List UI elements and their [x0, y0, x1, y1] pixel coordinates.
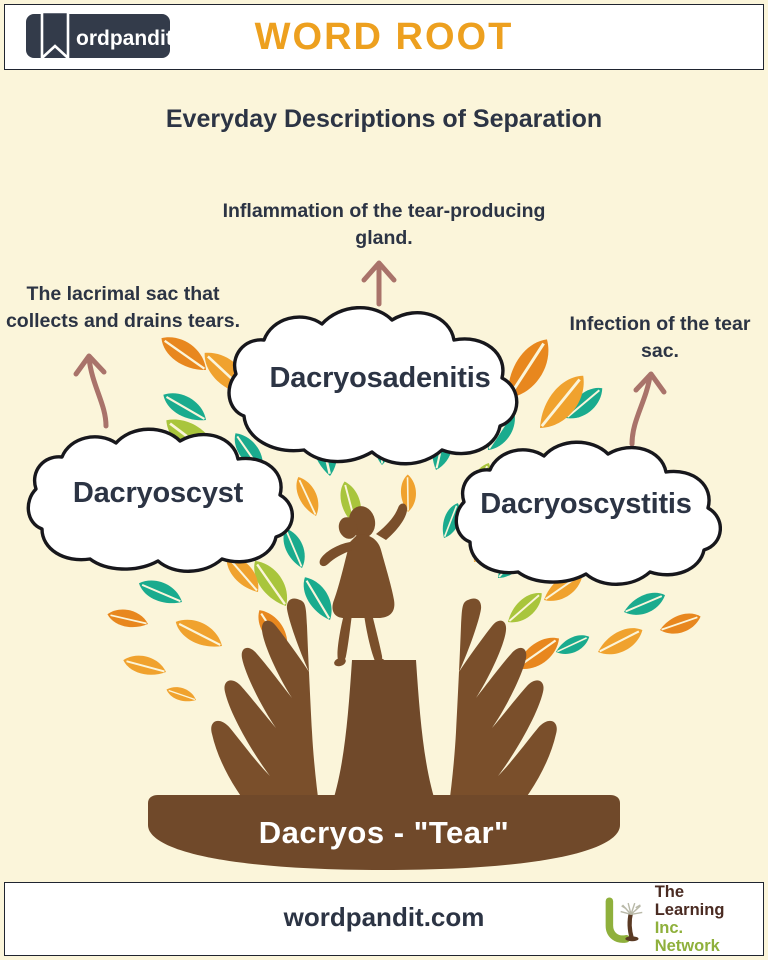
cloud-left[interactable]: Dacryoscyst [22, 425, 294, 577]
partner-line-2: Inc. Network [655, 920, 752, 956]
arrow-up-middle-icon [358, 258, 400, 306]
wordpandit-logo[interactable]: ordpandit [24, 12, 172, 60]
subtitle: Everyday Descriptions of Separation [0, 105, 768, 134]
root-label: Dacryos - "Tear" [148, 795, 620, 870]
cloud-label-right: Dacryoscystitis [450, 486, 722, 524]
cloud-label-left: Dacryoscyst [22, 475, 294, 513]
description-middle: Inflammation of the tear-producing gland… [214, 198, 554, 253]
the-learning-inc-network-logo[interactable]: The Learning Inc. Network [600, 895, 752, 945]
infographic-poster: WORD ROOT Everyday Descriptions of Separ… [0, 0, 768, 960]
page-title: WORD ROOT [255, 16, 514, 59]
cloud-right[interactable]: Dacryoscystitis [450, 438, 722, 590]
partner-line-1: The Learning [655, 884, 752, 920]
tree-logo-icon [600, 896, 651, 944]
root-banner: Dacryos - "Tear" [148, 795, 620, 870]
cloud-label-middle: Dacryosadenitis [222, 360, 538, 398]
child-silhouette [320, 504, 407, 668]
wordpandit-logo-text: ordpandit [76, 27, 172, 50]
